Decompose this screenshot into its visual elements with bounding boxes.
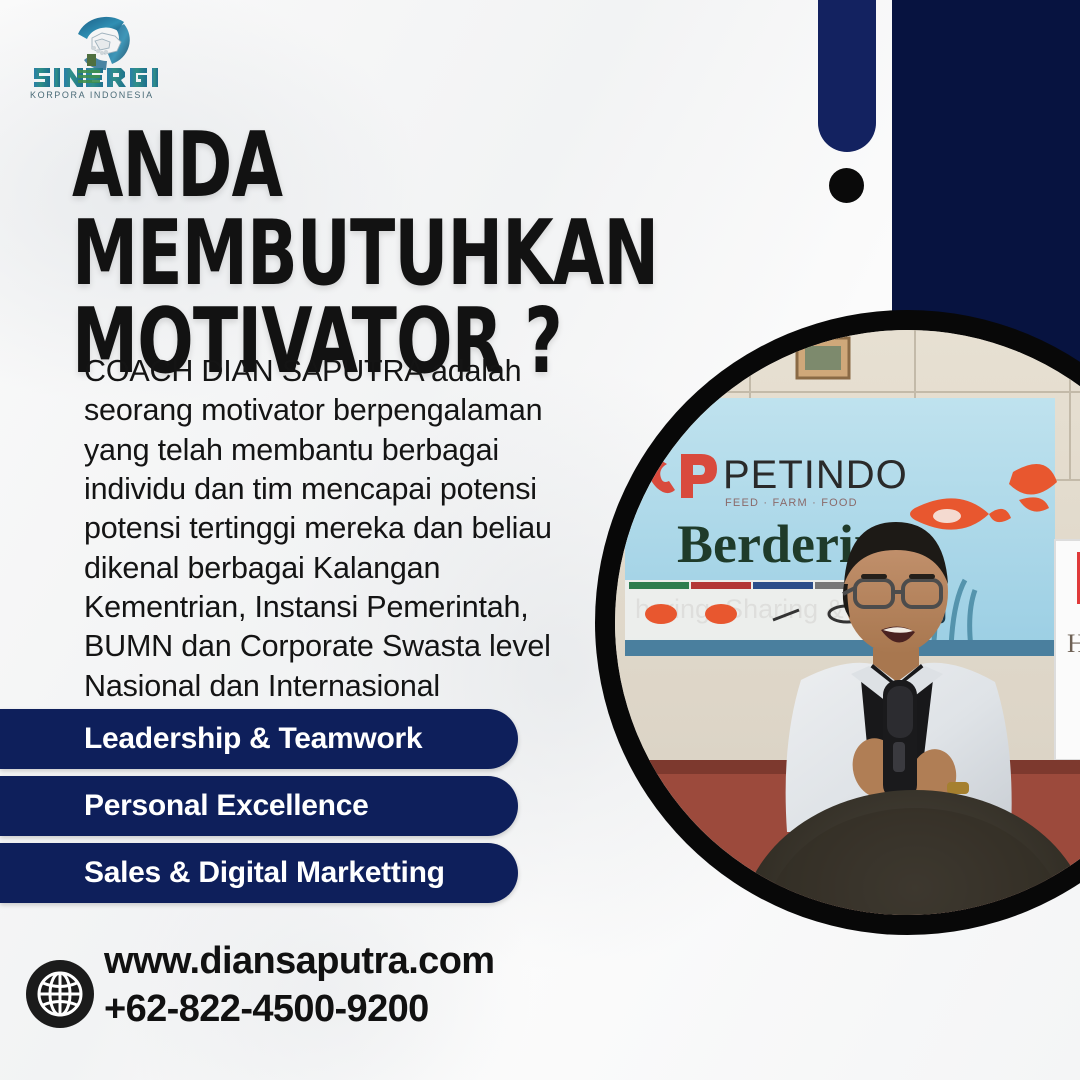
page-title: ANDA MEMBUTUHKAN MOTIVATOR ?	[72, 122, 646, 387]
service-pill-sales-digital[interactable]: Sales & Digital Marketting	[0, 843, 518, 903]
poster-canvas: KORPORA INDONESIA ANDA MEMBUTUHKAN MOTIV…	[0, 0, 1080, 1080]
exclamation-dot-icon	[829, 168, 864, 203]
photo-sign-text: Hura	[1067, 629, 1080, 658]
service-pill-personal-excellence[interactable]: Personal Excellence	[0, 776, 518, 836]
exclamation-bar-icon	[818, 0, 876, 152]
body-paragraph: COACH DIAN SAPUTRA adalah seorang motiva…	[84, 352, 604, 706]
phone-text[interactable]: +62-822-4500-9200	[104, 986, 495, 1034]
contact-block: www.diansaputra.com +62-822-4500-9200	[104, 938, 495, 1034]
speaker-photo: PETINDO FEED · FARM · FOOD Berdering her…	[615, 330, 1080, 915]
svg-text:PETINDO: PETINDO	[723, 453, 908, 497]
website-text[interactable]: www.diansaputra.com	[104, 938, 495, 986]
service-pill-label: Personal Excellence	[84, 789, 368, 823]
service-pill-leadership[interactable]: Leadership & Teamwork	[0, 709, 518, 769]
speaker-photo-ring: PETINDO FEED · FARM · FOOD Berdering her…	[595, 310, 1080, 935]
globe-icon	[24, 958, 96, 1030]
service-pill-label: Leadership & Teamwork	[84, 722, 422, 756]
service-pill-label: Sales & Digital Marketting	[84, 856, 445, 890]
svg-text:FEED · FARM · FOOD: FEED · FARM · FOOD	[725, 497, 858, 509]
logo-tagline-text: KORPORA INDONESIA	[30, 90, 154, 100]
sinergi-logo: KORPORA INDONESIA	[16, 8, 186, 100]
